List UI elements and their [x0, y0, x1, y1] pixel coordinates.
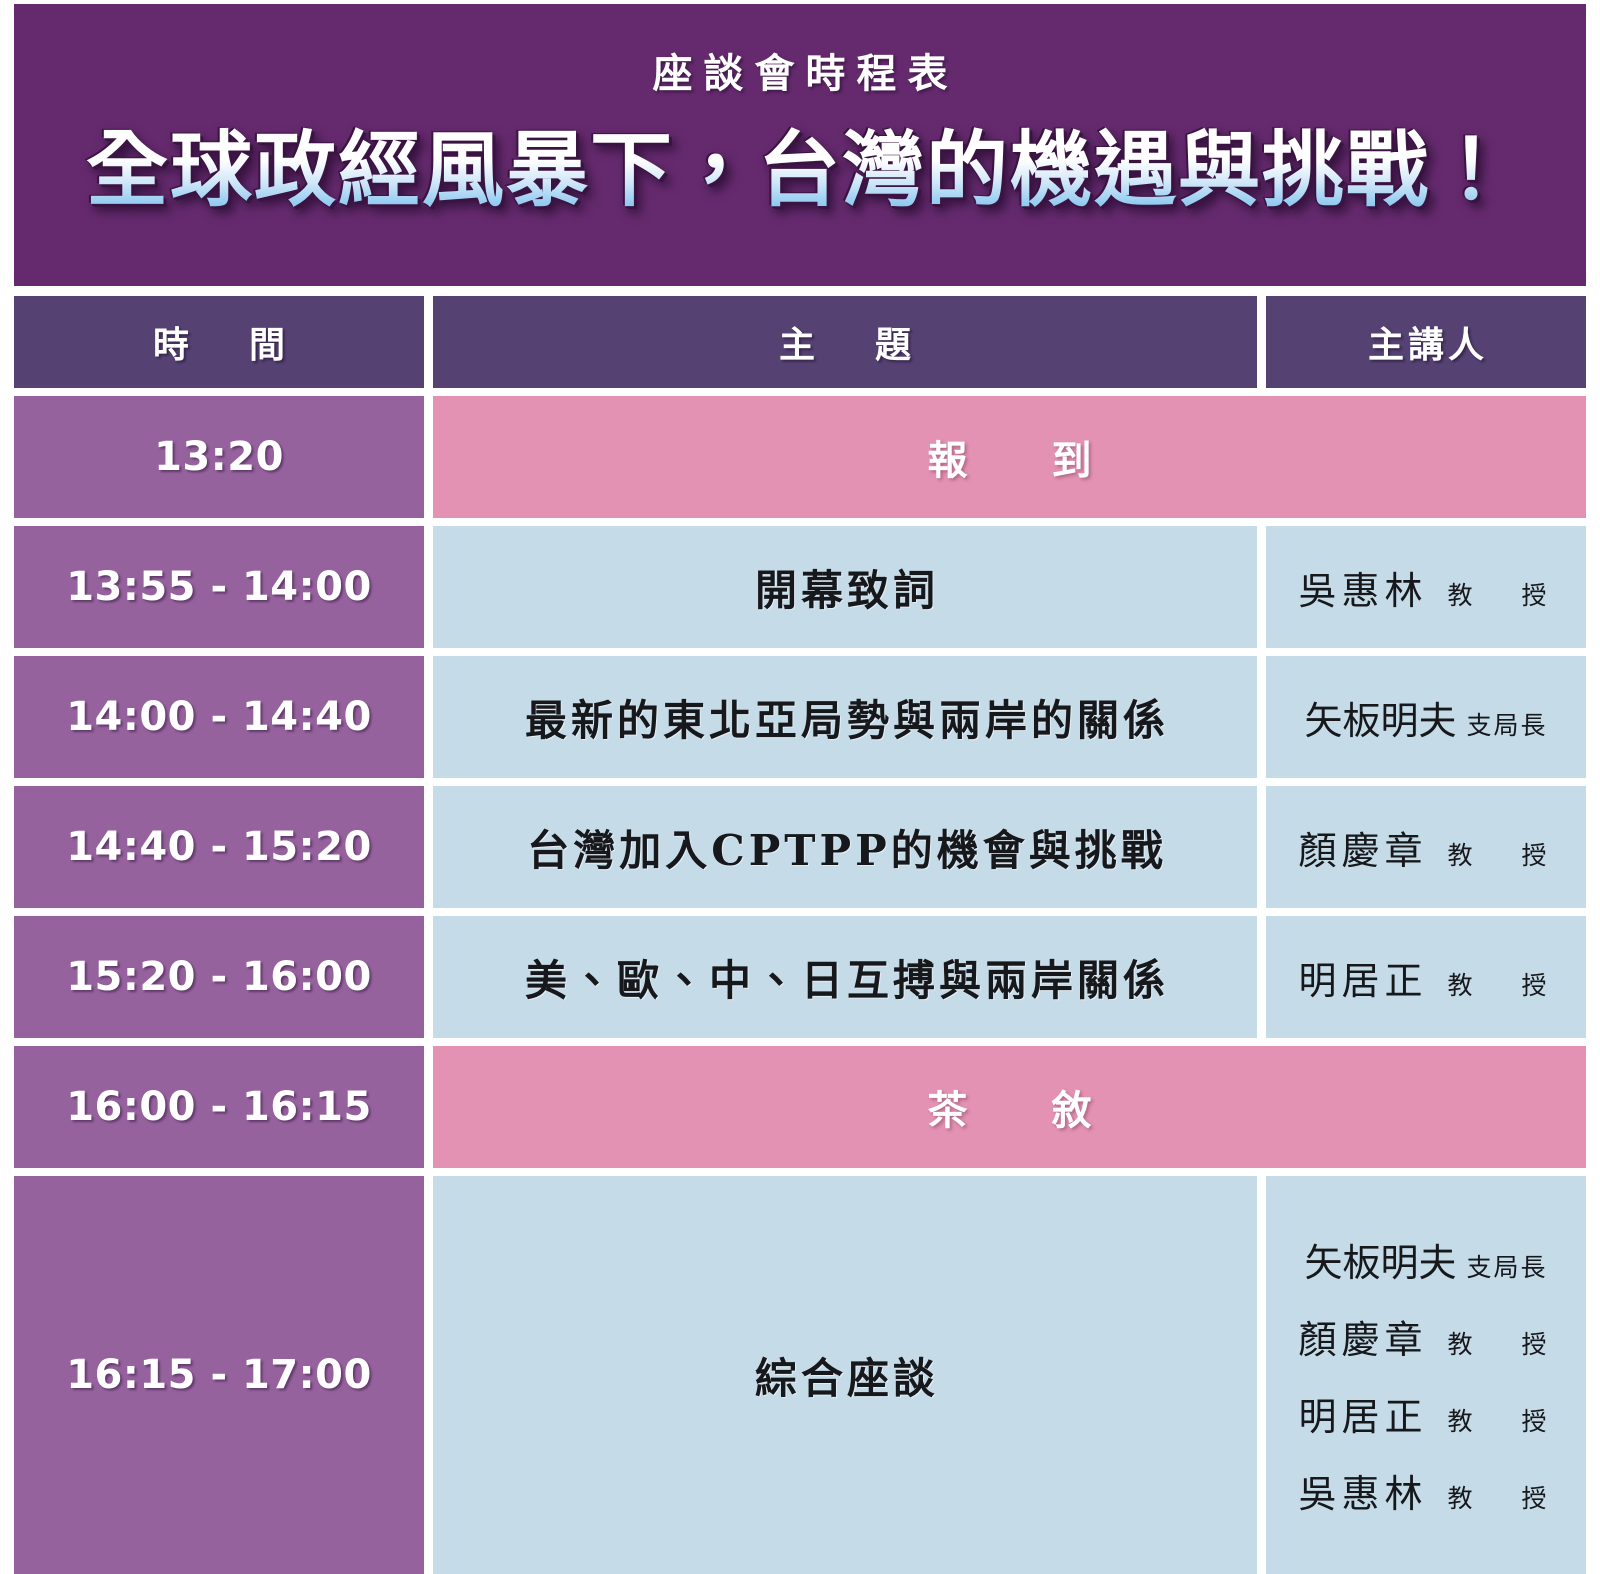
row-time: 15:20 - 16:00: [14, 916, 424, 1038]
speaker-title: 教 授: [1436, 1402, 1559, 1438]
row-time: 13:55 - 14:00: [14, 526, 424, 648]
row-topic-break: 茶 敘: [433, 1046, 1586, 1168]
table-row: 13:55 - 14:00 開幕致詞 吳惠林 教 授: [14, 526, 1586, 648]
speaker-name: 顏慶章: [1293, 1309, 1427, 1364]
table-row: 14:00 - 14:40 最新的東北亞局勢與兩岸的關係 矢板明夫 支局長: [14, 656, 1586, 778]
speaker-entry: 明居正 教 授: [1293, 950, 1558, 1005]
row-speakers: 明居正 教 授: [1266, 916, 1586, 1038]
speaker-title: 教 授: [1436, 836, 1559, 872]
speaker-entry: 顏慶章 教 授: [1293, 1309, 1558, 1364]
speaker-entry: 明居正 教 授: [1293, 1386, 1558, 1441]
row-speakers: 矢板明夫 支局長 顏慶章 教 授 明居正 教 授 吳惠林 教 授: [1266, 1176, 1586, 1574]
table-row: 16:00 - 16:15 茶 敘: [14, 1046, 1586, 1168]
row-topic: 開幕致詞: [433, 526, 1257, 648]
row-time: 14:00 - 14:40: [14, 656, 424, 778]
speaker-title: 支局長: [1465, 1248, 1548, 1284]
row-topic: 台灣加入CPTPP的機會與挑戰: [433, 786, 1257, 908]
speaker-title: 教 授: [1436, 1325, 1559, 1361]
speaker-entry: 吳惠林 教 授: [1293, 1463, 1558, 1518]
speaker-name: 顏慶章: [1293, 820, 1427, 875]
row-speakers: 吳惠林 教 授: [1266, 526, 1586, 648]
table-row: 14:40 - 15:20 台灣加入CPTPP的機會與挑戰 顏慶章 教 授: [14, 786, 1586, 908]
row-topic: 綜合座談: [433, 1176, 1257, 1574]
column-header-speaker: 主講人: [1266, 296, 1586, 388]
speaker-name: 矢板明夫: [1304, 690, 1456, 745]
banner-subtitle: 座談會時程表: [14, 52, 1586, 96]
speaker-title: 教 授: [1436, 1479, 1559, 1515]
table-row: 15:20 - 16:00 美、歐、中、日互搏與兩岸關係 明居正 教 授: [14, 916, 1586, 1038]
row-time: 16:00 - 16:15: [14, 1046, 424, 1168]
table-row: 16:15 - 17:00 綜合座談 矢板明夫 支局長 顏慶章 教 授 明居正 …: [14, 1176, 1586, 1574]
table-row: 13:20 報 到: [14, 396, 1586, 518]
speaker-title: 教 授: [1436, 576, 1559, 612]
schedule-table: 時 間 主 題 主講人 13:20 報 到 13:55 - 14:00 開幕致詞…: [14, 286, 1586, 1574]
speaker-name: 吳惠林: [1293, 560, 1427, 615]
banner-title: 全球政經風暴下，台灣的機遇與挑戰！: [14, 124, 1586, 218]
row-topic: 美、歐、中、日互搏與兩岸關係: [433, 916, 1257, 1038]
schedule-poster: 座談會時程表 全球政經風暴下，台灣的機遇與挑戰！ 時 間 主 題 主講人 13:…: [0, 0, 1600, 1533]
poster-banner: 座談會時程表 全球政經風暴下，台灣的機遇與挑戰！: [14, 4, 1586, 286]
speaker-entry: 矢板明夫 支局長: [1304, 1232, 1547, 1287]
column-header-time: 時 間: [14, 296, 424, 388]
speaker-name: 吳惠林: [1293, 1463, 1427, 1518]
speaker-name: 明居正: [1293, 950, 1427, 1005]
row-time: 16:15 - 17:00: [14, 1176, 424, 1574]
speaker-name: 明居正: [1293, 1386, 1427, 1441]
speaker-entry: 吳惠林 教 授: [1293, 560, 1558, 615]
row-speakers: 矢板明夫 支局長: [1266, 656, 1586, 778]
column-header-topic: 主 題: [433, 296, 1257, 388]
speaker-entry: 矢板明夫 支局長: [1304, 690, 1547, 745]
row-speakers: 顏慶章 教 授: [1266, 786, 1586, 908]
row-topic: 最新的東北亞局勢與兩岸的關係: [433, 656, 1257, 778]
row-time: 13:20: [14, 396, 424, 518]
row-topic-break: 報 到: [433, 396, 1586, 518]
speaker-title: 支局長: [1465, 706, 1548, 742]
speaker-entry: 顏慶章 教 授: [1293, 820, 1558, 875]
speaker-title: 教 授: [1436, 966, 1559, 1002]
table-header-row: 時 間 主 題 主講人: [14, 296, 1586, 388]
speaker-name: 矢板明夫: [1304, 1232, 1456, 1287]
row-time: 14:40 - 15:20: [14, 786, 424, 908]
